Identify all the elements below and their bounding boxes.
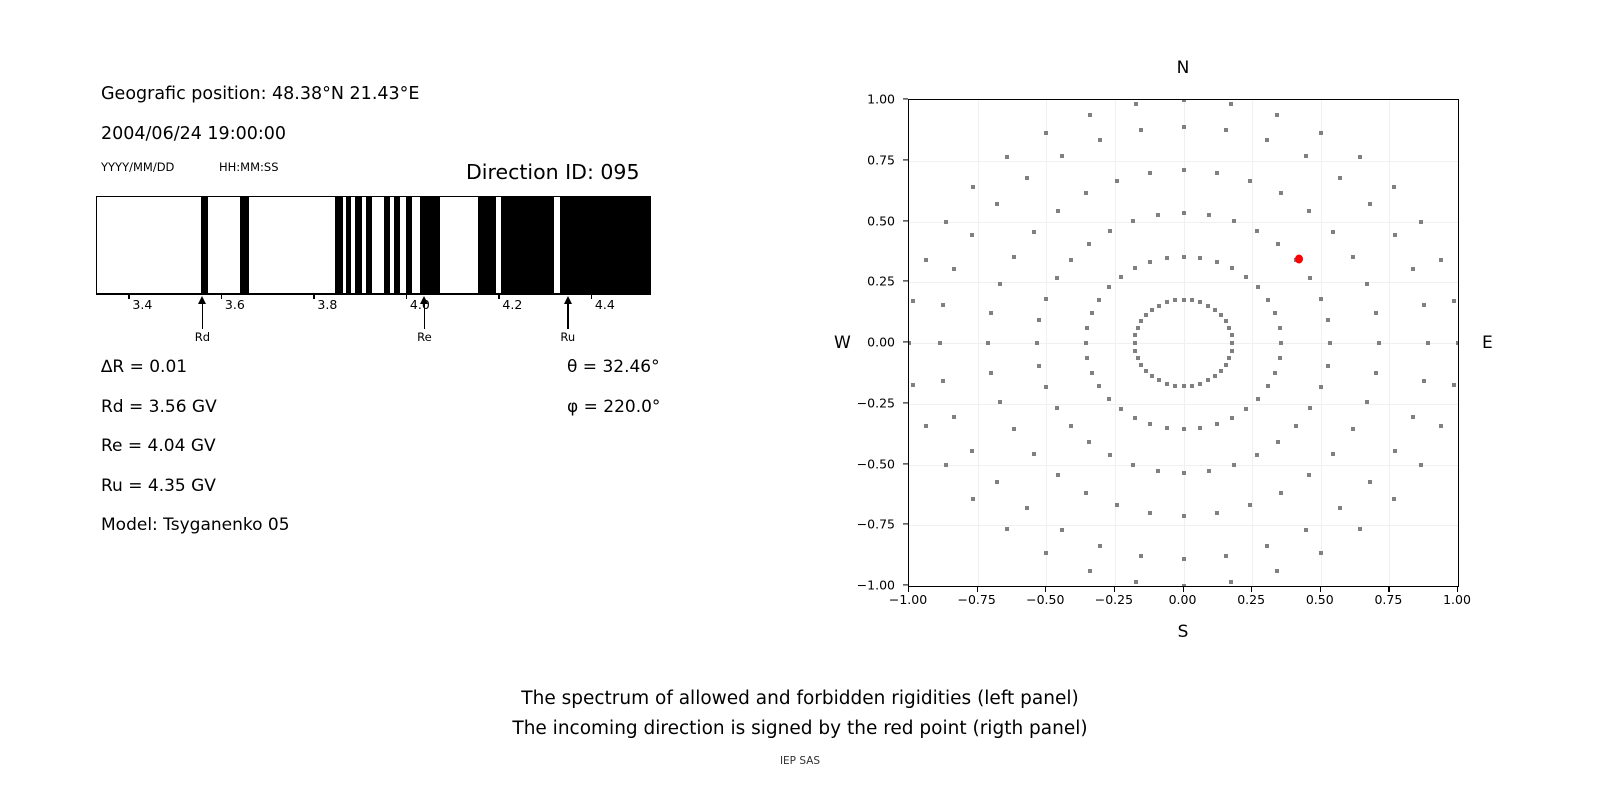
direction-point: [1224, 128, 1228, 132]
direction-point: [1165, 256, 1169, 260]
direction-point: [1276, 242, 1280, 246]
direction-point: [1165, 426, 1169, 430]
direction-point: [1232, 219, 1236, 223]
polar-x-tick-label: 0.75: [1374, 592, 1402, 607]
direction-point: [1411, 415, 1415, 419]
direction-point: [924, 258, 928, 262]
direction-point: [1227, 326, 1231, 330]
direction-point: [1182, 471, 1186, 475]
direction-point: [1374, 371, 1378, 375]
direction-point: [1215, 422, 1219, 426]
direction-point: [1256, 285, 1260, 289]
marker-arrowhead-rd: [198, 296, 206, 304]
direction-point: [1044, 385, 1048, 389]
polar-x-tick-label: 1.00: [1443, 592, 1471, 607]
polar-y-tick-label: −0.50: [857, 456, 895, 471]
marker-arrow-re: [424, 303, 426, 329]
direction-point: [970, 449, 974, 453]
direction-point: [1304, 528, 1308, 532]
direction-point: [971, 185, 975, 189]
direction-point: [1139, 554, 1143, 558]
direction-point: [1084, 341, 1088, 345]
direction-point: [1368, 480, 1372, 484]
direction-point: [1144, 369, 1148, 373]
compass-label-west: W: [834, 333, 851, 353]
direction-point: [1087, 242, 1091, 246]
direction-point: [1419, 463, 1423, 467]
polar-y-tick-label: −0.25: [857, 395, 895, 410]
polar-y-tick-label: 0.25: [867, 274, 895, 289]
marker-arrowhead-ru: [564, 296, 572, 304]
direction-point: [1266, 384, 1270, 388]
direction-point: [1139, 363, 1143, 367]
direction-point: [1107, 397, 1111, 401]
spectrum-x-tick: [128, 294, 129, 299]
direction-point: [1107, 285, 1111, 289]
direction-point: [1230, 349, 1234, 353]
direction-point: [1060, 528, 1064, 532]
direction-point: [1156, 469, 1160, 473]
direction-point: [1278, 356, 1282, 360]
direction-point: [1411, 267, 1415, 271]
direction-point: [1182, 384, 1186, 388]
direction-point: [1304, 154, 1308, 158]
direction-point: [1230, 416, 1234, 420]
direction-point: [941, 379, 945, 383]
direction-point: [998, 282, 1002, 286]
direction-point: [924, 424, 928, 428]
direction-point: [1012, 427, 1016, 431]
spectrum-x-tick: [406, 294, 407, 299]
direction-point: [1319, 551, 1323, 555]
direction-point: [1392, 497, 1396, 501]
spectrum-x-tick-label: 3.8: [317, 297, 337, 312]
forbidden-band: [366, 197, 372, 293]
direction-point: [1134, 102, 1138, 106]
param-model: Model: Tsyganenko 05: [101, 515, 290, 535]
direction-point: [1358, 155, 1362, 159]
direction-point: [1308, 276, 1312, 280]
direction-point: [1224, 554, 1228, 558]
direction-point: [1097, 384, 1101, 388]
direction-point: [1215, 511, 1219, 515]
direction-point: [998, 400, 1002, 404]
direction-point: [1098, 138, 1102, 142]
compass-label-east: E: [1482, 333, 1493, 353]
direction-point: [1256, 397, 1260, 401]
grid-line-horizontal: [909, 465, 1458, 466]
direction-point: [1452, 299, 1456, 303]
forbidden-band: [355, 197, 362, 293]
direction-point: [1224, 319, 1228, 323]
spectrum-plot-area: [96, 196, 651, 294]
direction-point: [1374, 311, 1378, 315]
polar-y-tick: [903, 341, 908, 342]
direction-point: [1037, 364, 1041, 368]
forbidden-band: [560, 197, 652, 293]
direction-point: [1025, 176, 1029, 180]
direction-point: [1319, 131, 1323, 135]
direction-point: [1090, 311, 1094, 315]
direction-point: [1150, 308, 1154, 312]
direction-point: [1133, 266, 1137, 270]
datetime-label: 2004/06/24 19:00:00: [101, 124, 286, 144]
polar-y-tick: [903, 281, 908, 282]
direction-point: [1278, 326, 1282, 330]
forbidden-band: [420, 197, 440, 293]
direction-point: [1439, 424, 1443, 428]
direction-point: [1133, 349, 1137, 353]
direction-point: [1156, 213, 1160, 217]
direction-point: [989, 311, 993, 315]
direction-point: [944, 220, 948, 224]
direction-point: [1069, 258, 1073, 262]
direction-point: [1182, 211, 1186, 215]
date-format-hint: YYYY/MM/DD: [101, 160, 174, 174]
direction-point: [1279, 491, 1283, 495]
direction-point: [1182, 514, 1186, 518]
direction-point: [1044, 297, 1048, 301]
direction-point: [1426, 341, 1430, 345]
direction-point: [1365, 400, 1369, 404]
grid-line-horizontal: [909, 161, 1458, 162]
direction-point: [911, 383, 915, 387]
direction-point: [1365, 282, 1369, 286]
direction-point: [1032, 452, 1036, 456]
direction-point: [1198, 426, 1202, 430]
polar-y-tick-label: 0.75: [867, 152, 895, 167]
param-ru: Ru = 4.35 GV: [101, 476, 216, 496]
direction-point: [1213, 308, 1217, 312]
direction-point: [1131, 463, 1135, 467]
param-delta-r: ∆R = 0.01: [101, 357, 187, 377]
direction-point: [1377, 341, 1381, 345]
direction-point: [1037, 318, 1041, 322]
polar-x-tick-label: −0.75: [957, 592, 995, 607]
marker-arrowhead-re: [420, 296, 428, 304]
marker-label-rd: Rd: [195, 330, 210, 344]
direction-point: [1012, 255, 1016, 259]
polar-y-tick-label: −0.75: [857, 517, 895, 532]
marker-label-re: Re: [417, 330, 432, 344]
polar-x-tick-label: −0.50: [1026, 592, 1064, 607]
direction-point: [1213, 374, 1217, 378]
direction-point: [1229, 580, 1233, 584]
direction-point: [1182, 125, 1186, 129]
direction-point: [1275, 569, 1279, 573]
direction-point: [1182, 99, 1186, 102]
forbidden-band: [346, 197, 352, 293]
rigidity-spectrum-chart: [96, 196, 651, 294]
spectrum-x-tick: [498, 294, 499, 299]
spectrum-x-tick-label: 4.4: [595, 297, 615, 312]
marker-arrow-rd: [202, 303, 204, 329]
direction-point: [941, 303, 945, 307]
direction-point: [1085, 356, 1089, 360]
direction-point: [1331, 230, 1335, 234]
direction-point: [1044, 551, 1048, 555]
direction-point: [1328, 341, 1332, 345]
direction-point: [1307, 473, 1311, 477]
direction-point: [1224, 363, 1228, 367]
direction-point: [1133, 416, 1137, 420]
compass-label-north: N: [1177, 58, 1190, 78]
direction-point: [1084, 491, 1088, 495]
direction-point: [1422, 303, 1426, 307]
direction-point: [1148, 171, 1152, 175]
footer-credit: IEP SAS: [0, 755, 1600, 767]
polar-x-tick-label: 0.25: [1237, 592, 1265, 607]
polar-y-tick-label: 1.00: [867, 92, 895, 107]
direction-point: [1331, 452, 1335, 456]
forbidden-band: [394, 197, 400, 293]
grid-line-horizontal: [909, 343, 1458, 344]
direction-point: [1393, 233, 1397, 237]
direction-point: [1392, 185, 1396, 189]
direction-point: [1229, 102, 1233, 106]
polar-x-tick-label: −0.25: [1095, 592, 1133, 607]
direction-point: [1255, 453, 1259, 457]
polar-y-tick: [903, 220, 908, 221]
direction-point: [1055, 276, 1059, 280]
caption-line-1: The spectrum of allowed and forbidden ri…: [0, 688, 1600, 709]
direction-point: [1005, 527, 1009, 531]
direction-point: [1230, 266, 1234, 270]
direction-point: [1198, 382, 1202, 386]
direction-point: [1150, 374, 1154, 378]
direction-point: [1244, 275, 1248, 279]
direction-point: [1025, 506, 1029, 510]
grid-line-horizontal: [909, 282, 1458, 283]
direction-point: [1456, 341, 1459, 345]
direction-point: [1165, 382, 1169, 386]
polar-x-tick-label: −1.00: [889, 592, 927, 607]
direction-point: [1255, 229, 1259, 233]
direction-point: [1182, 168, 1186, 172]
rigidity-spectrum-panel: Geografic position: 48.38°N 21.43°E 2004…: [0, 0, 760, 800]
direction-point: [1173, 384, 1177, 388]
direction-point: [971, 497, 975, 501]
direction-point: [1108, 229, 1112, 233]
direction-point: [1085, 326, 1089, 330]
polar-y-tick-label: −1.00: [857, 578, 895, 593]
polar-plot-area: [908, 99, 1459, 587]
direction-point: [911, 299, 915, 303]
spectrum-x-tick-label: 4.2: [502, 297, 522, 312]
direction-point: [986, 341, 990, 345]
direction-point: [1219, 313, 1223, 317]
direction-point: [1419, 220, 1423, 224]
direction-point: [1119, 407, 1123, 411]
direction-point: [1206, 378, 1210, 382]
direction-point: [1060, 154, 1064, 158]
direction-point: [1157, 378, 1161, 382]
direction-point: [1182, 427, 1186, 431]
direction-point: [1338, 506, 1342, 510]
direction-point: [1326, 318, 1330, 322]
grid-line-horizontal: [909, 222, 1458, 223]
polar-y-tick: [903, 159, 908, 160]
direction-point: [1173, 298, 1177, 302]
direction-point: [1452, 383, 1456, 387]
direction-point: [908, 341, 911, 345]
direction-point: [952, 415, 956, 419]
direction-point: [1422, 379, 1426, 383]
direction-point: [1148, 260, 1152, 264]
direction-point: [1266, 298, 1270, 302]
direction-point: [952, 267, 956, 271]
marker-arrow-ru: [567, 303, 569, 329]
compass-label-south: S: [1178, 622, 1189, 642]
direction-point: [1338, 176, 1342, 180]
direction-point: [1265, 138, 1269, 142]
polar-x-tick-label: 0.50: [1306, 592, 1334, 607]
direction-point: [944, 463, 948, 467]
direction-point: [1139, 128, 1143, 132]
direction-point: [1035, 341, 1039, 345]
grid-line-horizontal: [909, 404, 1458, 405]
direction-point: [1230, 341, 1234, 345]
param-theta: θ = 32.46°: [567, 357, 660, 377]
direction-point: [1190, 298, 1194, 302]
grid-line-horizontal: [909, 525, 1458, 526]
direction-point: [1308, 406, 1312, 410]
direction-point: [1215, 260, 1219, 264]
direction-point: [1097, 298, 1101, 302]
direction-point: [1115, 503, 1119, 507]
direction-point: [1148, 511, 1152, 515]
forbidden-band: [240, 197, 248, 293]
direction-point: [1134, 580, 1138, 584]
direction-point: [1198, 300, 1202, 304]
spectrum-x-tick: [221, 294, 222, 299]
direction-point: [1032, 230, 1036, 234]
direction-point: [1439, 258, 1443, 262]
direction-point: [1165, 300, 1169, 304]
caption-line-2: The incoming direction is signed by the …: [0, 718, 1600, 739]
direction-point: [1215, 171, 1219, 175]
direction-point: [989, 371, 993, 375]
direction-point: [1115, 179, 1119, 183]
direction-point: [1198, 256, 1202, 260]
param-phi: φ = 220.0°: [567, 397, 660, 417]
polar-y-tick-label: 0.50: [867, 213, 895, 228]
direction-point: [1248, 179, 1252, 183]
forbidden-band: [501, 197, 554, 293]
direction-point: [1273, 371, 1277, 375]
polar-x-tick-label: 0.00: [1169, 592, 1197, 607]
direction-point: [1148, 422, 1152, 426]
direction-point: [1319, 297, 1323, 301]
marker-label-ru: Ru: [560, 330, 575, 344]
direction-point: [1227, 356, 1231, 360]
direction-point: [995, 202, 999, 206]
direction-point: [1069, 424, 1073, 428]
forbidden-band: [201, 197, 208, 293]
direction-point: [1056, 209, 1060, 213]
direction-point: [1055, 406, 1059, 410]
direction-point: [1098, 544, 1102, 548]
param-rd: Rd = 3.56 GV: [101, 397, 217, 417]
direction-point: [1144, 313, 1148, 317]
direction-point: [1088, 569, 1092, 573]
direction-point: [1182, 298, 1186, 302]
direction-point: [1090, 371, 1094, 375]
incoming-direction-point: [1295, 255, 1303, 264]
polar-y-tick: [903, 402, 908, 403]
direction-point: [1044, 131, 1048, 135]
direction-point: [970, 233, 974, 237]
direction-point: [1088, 113, 1092, 117]
direction-point: [1182, 557, 1186, 561]
direction-polar-panel: N S W E −1.00−0.75−0.50−0.250.000.250.50…: [760, 0, 1600, 800]
direction-point: [1265, 544, 1269, 548]
direction-point: [1273, 311, 1277, 315]
direction-point: [1358, 527, 1362, 531]
direction-point: [995, 480, 999, 484]
direction-point: [1275, 113, 1279, 117]
forbidden-band: [384, 197, 390, 293]
direction-point: [1136, 356, 1140, 360]
geographic-position-label: Geografic position: 48.38°N 21.43°E: [101, 84, 419, 104]
spectrum-x-tick: [591, 294, 592, 299]
direction-point: [1279, 191, 1283, 195]
direction-point: [1207, 213, 1211, 217]
forbidden-band: [478, 197, 496, 293]
time-format-hint: HH:MM:SS: [219, 160, 279, 174]
direction-point: [1230, 333, 1234, 337]
direction-point: [1207, 469, 1211, 473]
direction-point: [1157, 304, 1161, 308]
direction-point: [1326, 364, 1330, 368]
direction-point: [1248, 503, 1252, 507]
direction-point: [1133, 333, 1137, 337]
direction-point: [1119, 275, 1123, 279]
forbidden-band: [335, 197, 342, 293]
polar-y-tick-label: 0.00: [867, 335, 895, 350]
spectrum-x-tick-label: 3.4: [132, 297, 152, 312]
direction-point: [1087, 440, 1091, 444]
direction-point: [1084, 191, 1088, 195]
direction-point: [1279, 341, 1283, 345]
direction-point: [1276, 440, 1280, 444]
polar-y-tick: [903, 463, 908, 464]
direction-point: [1351, 427, 1355, 431]
direction-point: [1182, 255, 1186, 259]
direction-point: [1190, 384, 1194, 388]
forbidden-band: [406, 197, 412, 293]
polar-y-tick: [903, 98, 908, 99]
direction-point: [1206, 304, 1210, 308]
polar-y-tick: [903, 524, 908, 525]
direction-point: [1219, 369, 1223, 373]
direction-point: [1005, 155, 1009, 159]
spectrum-x-tick-label: 3.6: [225, 297, 245, 312]
direction-point: [1307, 209, 1311, 213]
direction-id-label: Direction ID: 095: [466, 160, 640, 184]
direction-point: [1133, 341, 1137, 345]
direction-point: [1139, 319, 1143, 323]
direction-point: [1136, 326, 1140, 330]
direction-point: [1294, 424, 1298, 428]
param-re: Re = 4.04 GV: [101, 436, 216, 456]
spectrum-x-tick: [313, 294, 314, 299]
direction-point: [1131, 219, 1135, 223]
polar-y-tick: [903, 584, 908, 585]
direction-point: [1056, 473, 1060, 477]
direction-point: [938, 341, 942, 345]
direction-point: [1244, 407, 1248, 411]
